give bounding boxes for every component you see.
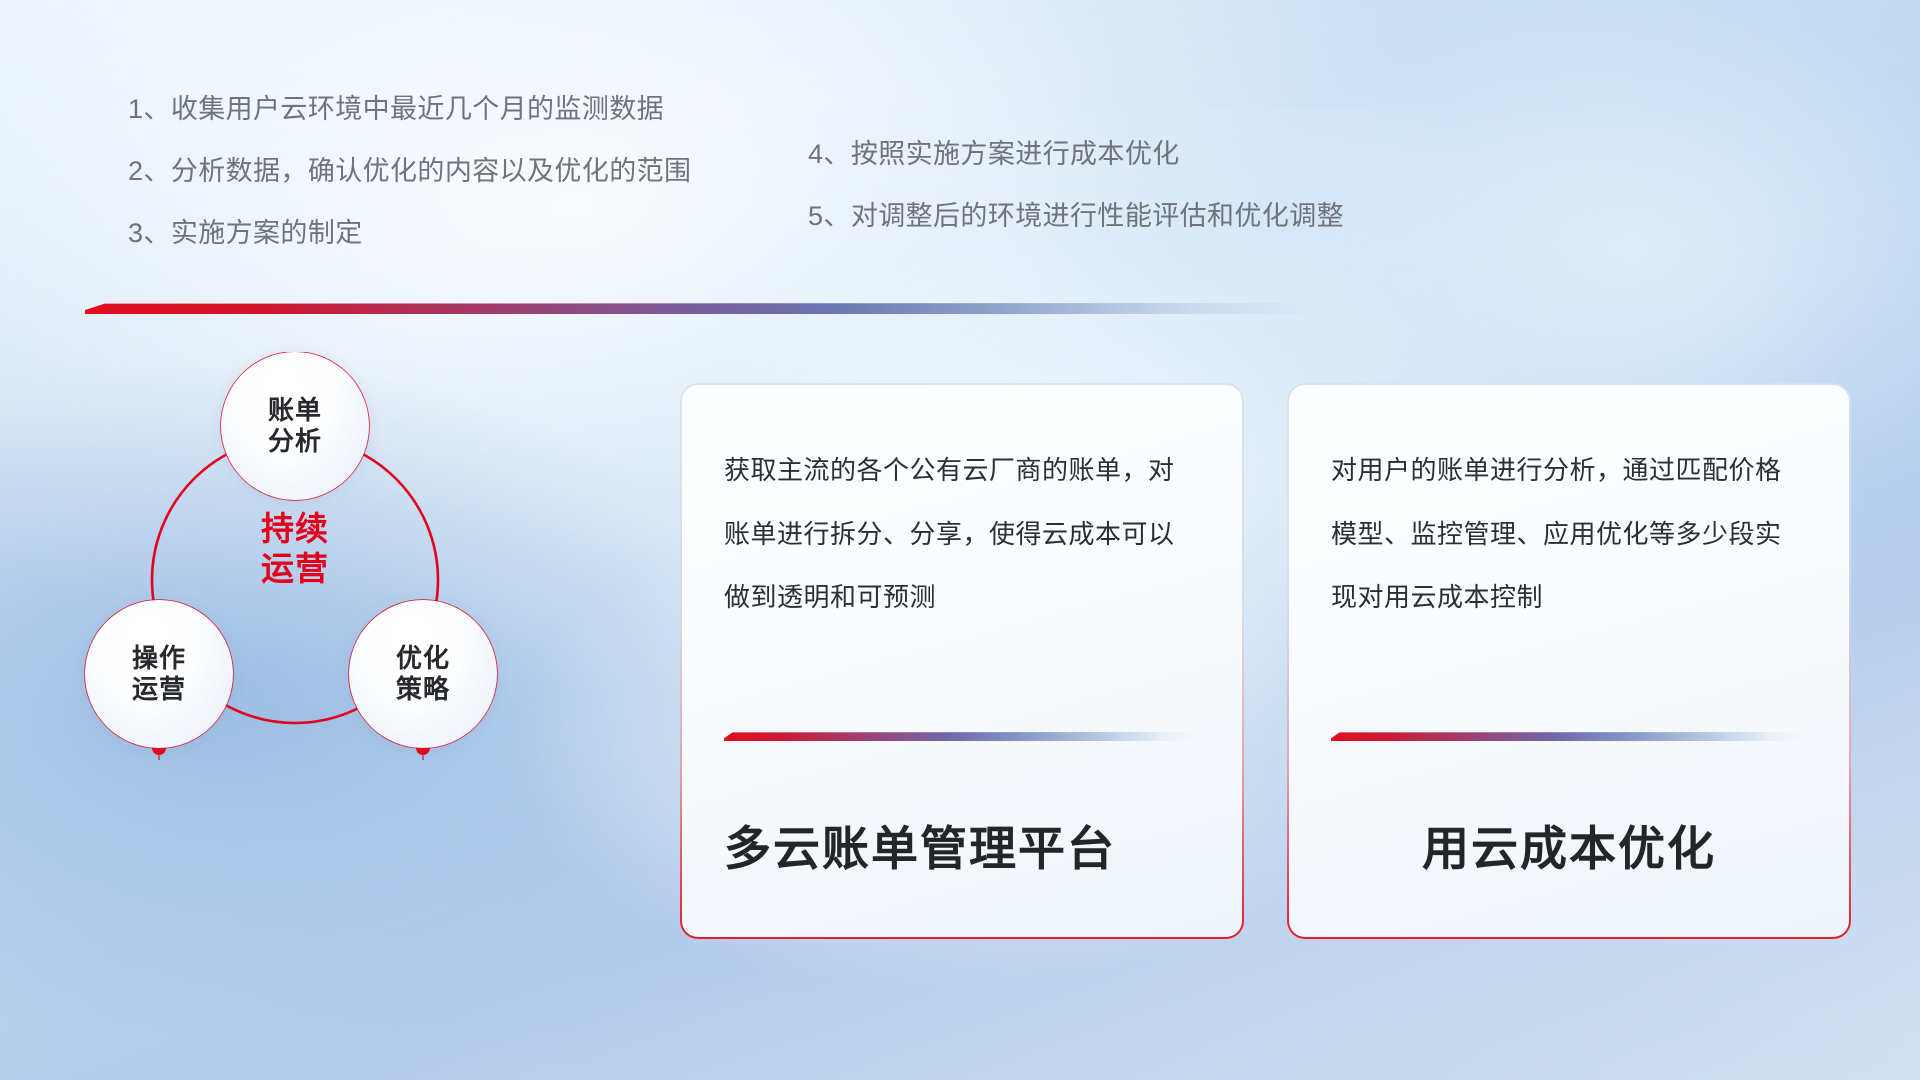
- step-item: 3、实施方案的制定: [128, 220, 691, 247]
- steps-left-column: 1、收集用户云环境中最近几个月的监测数据 2、分析数据，确认优化的内容以及优化的…: [128, 96, 691, 282]
- cycle-bubble-top[interactable]: 账单 分析: [221, 352, 369, 500]
- section-divider: [85, 303, 1320, 314]
- cycle-bubble-bottom-right-line1: 优化: [396, 643, 450, 674]
- cycle-center-line2: 运营: [261, 550, 329, 587]
- step-item: 4、按照实施方案进行成本优化: [808, 141, 1344, 168]
- steps-right-column: 4、按照实施方案进行成本优化 5、对调整后的环境进行性能评估和优化调整: [808, 141, 1344, 265]
- cycle-bubble-bottom-left-line2: 运营: [132, 674, 186, 705]
- feature-card-body: 对用户的账单进行分析，通过匹配价格模型、监控管理、应用优化等多少段实现对用云成本…: [1331, 439, 1807, 630]
- cycle-diagram: 账单 分析 操作 运营 优化 策略 持续 运营: [75, 352, 555, 820]
- step-item: 2、分析数据，确认优化的内容以及优化的范围: [128, 158, 691, 185]
- feature-card-divider: [1331, 732, 1807, 741]
- feature-card-multicloud-billing[interactable]: 获取主流的各个公有云厂商的账单，对账单进行拆分、分享，使得云成本可以做到透明和可…: [680, 383, 1244, 939]
- feature-card-divider: [724, 732, 1200, 741]
- cycle-bubble-bottom-left[interactable]: 操作 运营: [85, 600, 233, 748]
- feature-card-cost-optimization[interactable]: 对用户的账单进行分析，通过匹配价格模型、监控管理、应用优化等多少段实现对用云成本…: [1287, 383, 1851, 939]
- step-item: 1、收集用户云环境中最近几个月的监测数据: [128, 96, 691, 123]
- cycle-bubble-bottom-left-line1: 操作: [132, 643, 186, 674]
- steps-section: 1、收集用户云环境中最近几个月的监测数据 2、分析数据，确认优化的内容以及优化的…: [0, 96, 1920, 276]
- feature-card-inner: 获取主流的各个公有云厂商的账单，对账单进行拆分、分享，使得云成本可以做到透明和可…: [682, 385, 1242, 937]
- feature-card-title: 多云账单管理平台: [724, 823, 1116, 875]
- slide-canvas: 1、收集用户云环境中最近几个月的监测数据 2、分析数据，确认优化的内容以及优化的…: [0, 0, 1920, 1080]
- cycle-bubble-top-line2: 分析: [268, 426, 322, 457]
- feature-card-title: 用云成本优化: [1289, 823, 1849, 875]
- cycle-center-line1: 持续: [261, 510, 329, 547]
- cycle-center-label: 持续 运营: [225, 494, 365, 604]
- feature-card-inner: 对用户的账单进行分析，通过匹配价格模型、监控管理、应用优化等多少段实现对用云成本…: [1289, 385, 1849, 937]
- cycle-bubble-top-line1: 账单: [268, 395, 322, 426]
- cycle-bubble-bottom-right[interactable]: 优化 策略: [349, 600, 497, 748]
- step-item: 5、对调整后的环境进行性能评估和优化调整: [808, 203, 1344, 230]
- feature-card-body: 获取主流的各个公有云厂商的账单，对账单进行拆分、分享，使得云成本可以做到透明和可…: [724, 439, 1200, 630]
- section-divider-bar: [85, 303, 1320, 314]
- cycle-bubble-bottom-right-line2: 策略: [396, 674, 450, 705]
